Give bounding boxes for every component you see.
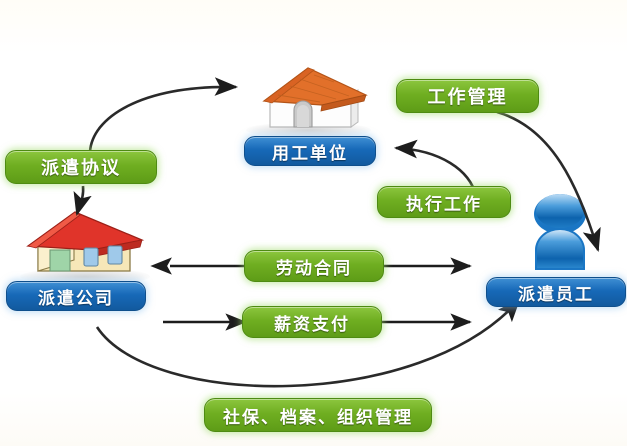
relation-dowork-text: 执行工作 [406,190,482,215]
relation-socialmgmt-text: 社保、档案、组织管理 [223,403,413,428]
arrow-agreement-to-employer [90,87,236,152]
relation-socialmgmt-label[interactable]: 社保、档案、组织管理 [204,398,432,432]
relation-contract-label[interactable]: 劳动合同 [244,250,384,282]
entity-company-label[interactable]: 派遣公司 [6,281,146,311]
diagram-canvas: 用工单位 派遣公司 [0,0,627,446]
relation-dowork-label[interactable]: 执行工作 [377,186,511,218]
relation-contract-text: 劳动合同 [276,254,352,279]
entity-employer-text: 用工单位 [272,139,348,164]
entity-employee-text: 派遣员工 [518,280,594,305]
relation-agreement-text: 派遣协议 [41,154,121,180]
relation-workmgmt-text: 工作管理 [428,83,508,109]
relation-workmgmt-label[interactable]: 工作管理 [396,79,539,113]
relation-salary-text: 薪资支付 [274,310,350,335]
entity-employer-label[interactable]: 用工单位 [244,136,376,166]
relation-salary-label[interactable]: 薪资支付 [242,306,382,338]
relation-agreement-label[interactable]: 派遣协议 [5,150,157,184]
arrow-workmgmt-to-employee [497,112,598,250]
entity-company-text: 派遣公司 [38,284,114,309]
entity-employee-label[interactable]: 派遣员工 [486,277,626,307]
arrow-agreement-to-company [77,186,83,214]
connector-layer [0,0,627,446]
